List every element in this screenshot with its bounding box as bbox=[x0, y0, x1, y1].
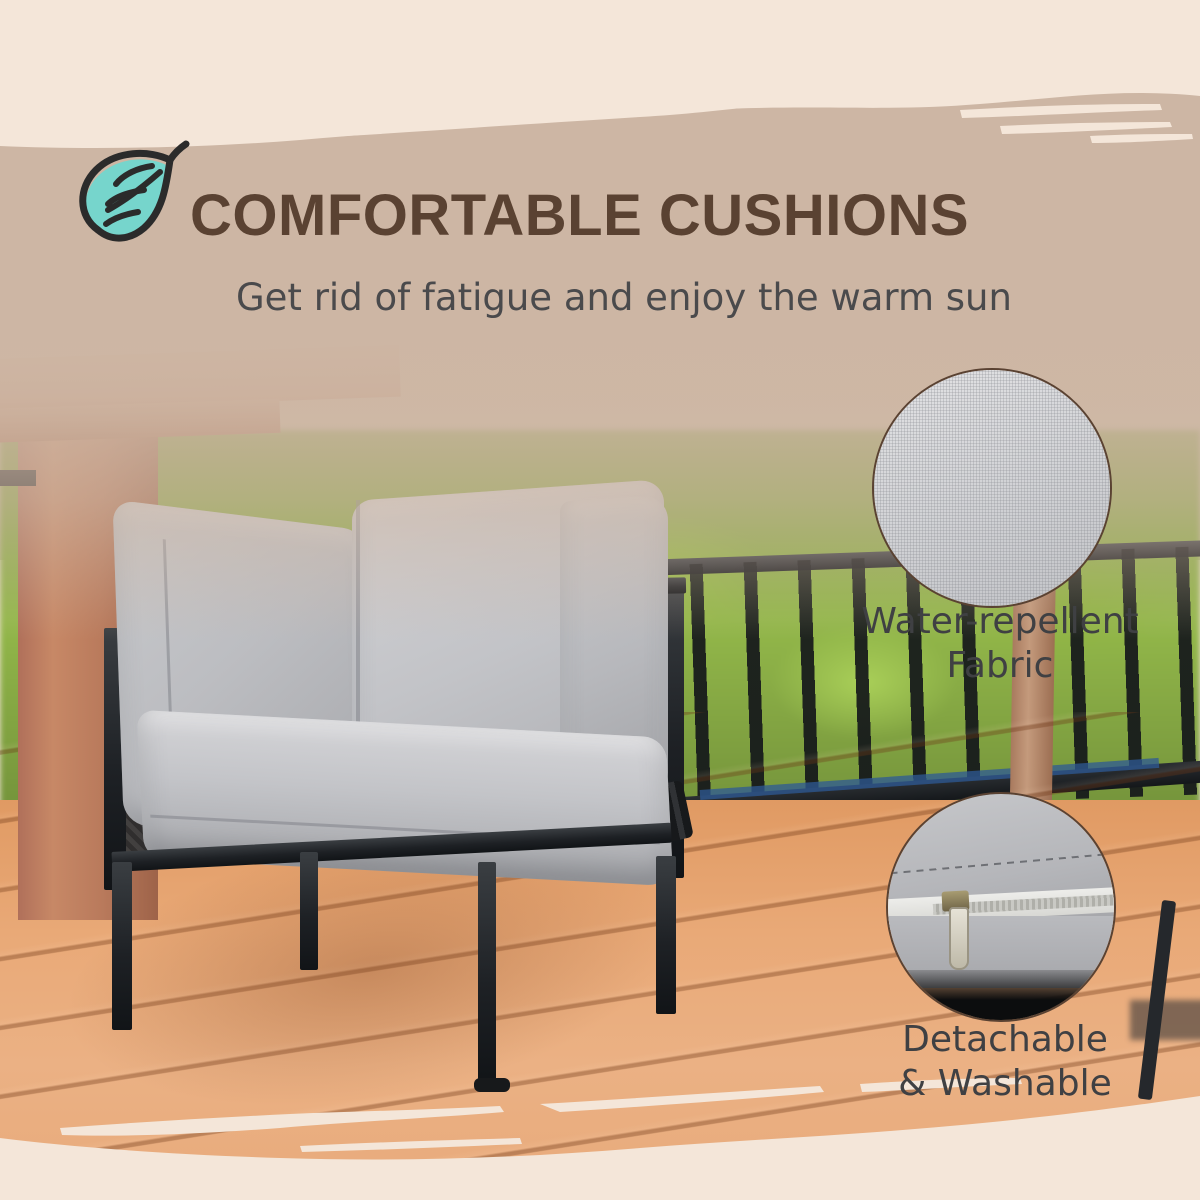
leaf-icon bbox=[64, 138, 192, 266]
page-subtitle: Get rid of fatigue and enjoy the warm su… bbox=[236, 276, 1012, 319]
product-feature-banner: COMFORTABLE CUSHIONS Get rid of fatigue … bbox=[0, 0, 1200, 1200]
fabric-swatch-closeup bbox=[872, 368, 1112, 608]
zipper-pull-tab bbox=[949, 907, 969, 970]
page-title: COMFORTABLE CUSHIONS bbox=[190, 182, 969, 249]
zipper-shadow-bottom bbox=[888, 970, 1114, 1020]
chair-foot-pad bbox=[474, 1078, 510, 1092]
zipper-closeup bbox=[886, 792, 1116, 1022]
chair-leg-rear-right bbox=[656, 856, 676, 1014]
fabric-weave-texture bbox=[874, 370, 1110, 606]
callout-label-water-repellent: Water-repellent Fabric bbox=[840, 600, 1160, 688]
chair-leg-front-right bbox=[478, 862, 496, 1084]
chair-leg-front-left bbox=[112, 862, 132, 1030]
callout-label-detachable-washable: Detachable & Washable bbox=[840, 1018, 1170, 1106]
chair-leg-front-center bbox=[300, 852, 318, 970]
